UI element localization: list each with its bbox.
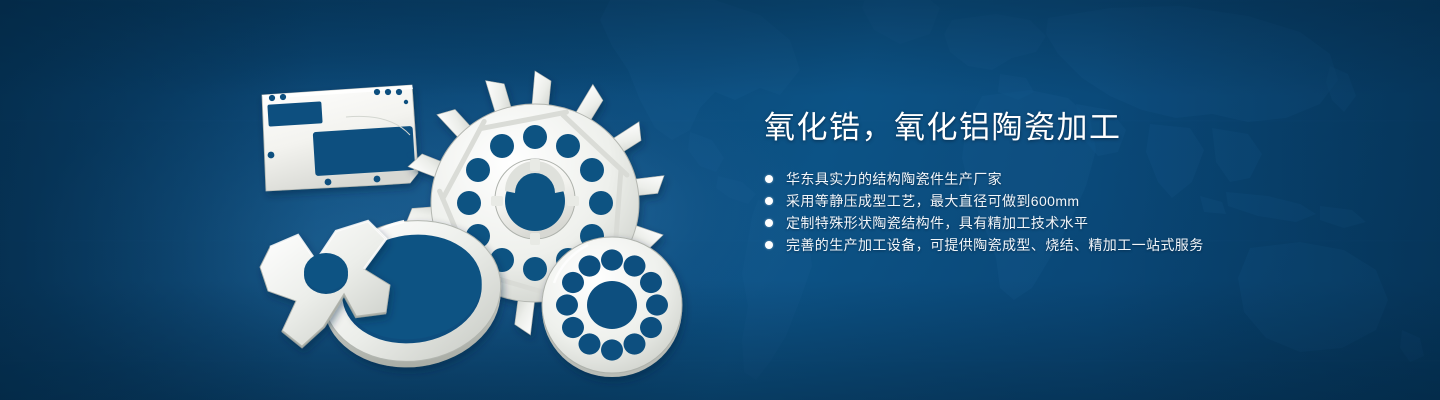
ceramic-perforated-disc-shape (542, 237, 682, 377)
banner-copy: 氧化锆，氧化铝陶瓷加工 华东具实力的结构陶瓷件生产厂家 采用等静压成型工艺，最大… (764, 108, 1384, 256)
list-item-label: 定制特殊形状陶瓷结构件，具有精加工技术水平 (786, 215, 1088, 231)
list-item: 完善的生产加工设备，可提供陶瓷成型、烧结、精加工一站式服务 (764, 234, 1384, 256)
bullet-dot-icon (765, 241, 773, 249)
list-item: 采用等静压成型工艺，最大直径可做到600mm (764, 190, 1384, 212)
banner-headline: 氧化锆，氧化铝陶瓷加工 (764, 108, 1384, 148)
bullet-dot-icon (765, 175, 773, 183)
list-item-label: 华东具实力的结构陶瓷件生产厂家 (786, 171, 1002, 187)
list-item-label: 完善的生产加工设备，可提供陶瓷成型、烧结、精加工一站式服务 (786, 237, 1204, 253)
list-item-label: 采用等静压成型工艺，最大直径可做到600mm (786, 193, 1079, 209)
bullet-dot-icon (765, 197, 773, 205)
ceramic-products-image (240, 55, 720, 390)
list-item: 定制特殊形状陶瓷结构件，具有精加工技术水平 (764, 212, 1384, 234)
bullet-dot-icon (765, 219, 773, 227)
feature-list: 华东具实力的结构陶瓷件生产厂家 采用等静压成型工艺，最大直径可做到600mm 定… (764, 168, 1384, 256)
hero-banner: 氧化锆，氧化铝陶瓷加工 华东具实力的结构陶瓷件生产厂家 采用等静压成型工艺，最大… (0, 0, 1440, 400)
ceramic-plate-shape (262, 85, 418, 191)
list-item: 华东具实力的结构陶瓷件生产厂家 (764, 168, 1384, 190)
